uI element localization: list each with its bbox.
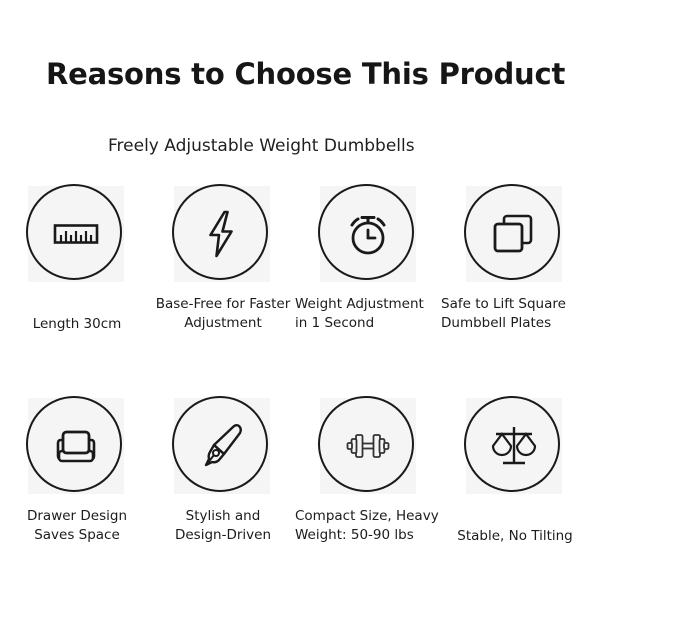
feature-item-compact-size: Compact Size, Heavy Weight: 50-90 lbs: [296, 398, 442, 583]
feature-caption: Compact Size, Heavy Weight: 50-90 lbs: [289, 507, 449, 545]
infographic-page: Reasons to Choose This Product Freely Ad…: [0, 0, 684, 623]
feature-row-1: Length 30cm Base-Free for Faster Adjustm…: [0, 186, 684, 371]
caption-line-2: Adjustment: [150, 314, 296, 333]
dumbbell-icon: [343, 421, 393, 471]
feature-caption: Stylish and Design-Driven: [150, 507, 296, 545]
caption-line-1: Drawer Design: [4, 507, 150, 526]
stacked-squares-icon: [489, 209, 539, 259]
feature-item-square-plates: Safe to Lift Square Dumbbell Plates: [442, 186, 588, 371]
feature-caption: Length 30cm: [4, 315, 150, 334]
fountain-pen-icon: [197, 421, 247, 471]
feature-icon-tile: [320, 398, 416, 494]
feature-icon-tile: [466, 186, 562, 282]
caption-line-2: Weight: 50-90 lbs: [295, 526, 449, 545]
feature-item-one-second: Weight Adjustment in 1 Second: [296, 186, 442, 371]
caption-line-1: Stable, No Tilting: [442, 527, 588, 546]
caption-line-1: Length 30cm: [4, 315, 150, 334]
caption-line-2: Saves Space: [4, 526, 150, 545]
lightning-bolt-icon: [197, 209, 247, 259]
caption-line-1: Stylish and: [150, 507, 296, 526]
feature-caption: Drawer Design Saves Space: [4, 507, 150, 545]
stopwatch-icon: [343, 209, 393, 259]
ruler-icon: [51, 209, 101, 259]
feature-icon-tile: [28, 398, 124, 494]
feature-row-2: Drawer Design Saves Space Stylish and De…: [0, 398, 684, 583]
feature-icon-tile: [466, 398, 562, 494]
drawer-icon: [51, 421, 101, 471]
caption-line-1: Compact Size, Heavy: [295, 507, 449, 526]
feature-icon-tile: [28, 186, 124, 282]
feature-icon-tile: [320, 186, 416, 282]
caption-line-2: Dumbbell Plates: [441, 314, 595, 333]
feature-item-drawer: Drawer Design Saves Space: [4, 398, 150, 583]
feature-item-base-free: Base-Free for Faster Adjustment: [150, 186, 296, 371]
feature-caption: Weight Adjustment in 1 Second: [289, 295, 449, 333]
feature-item-length: Length 30cm: [4, 186, 150, 371]
caption-line-2: Design-Driven: [150, 526, 296, 545]
balance-scales-icon: [489, 421, 539, 471]
feature-icon-tile: [174, 398, 270, 494]
feature-caption: Safe to Lift Square Dumbbell Plates: [435, 295, 595, 333]
caption-line-1: Safe to Lift Square: [441, 295, 595, 314]
page-subtitle: Freely Adjustable Weight Dumbbells: [108, 136, 415, 156]
caption-line-1: Base-Free for Faster: [150, 295, 296, 314]
caption-line-2: in 1 Second: [295, 314, 449, 333]
page-title: Reasons to Choose This Product: [46, 57, 565, 91]
feature-icon-tile: [174, 186, 270, 282]
caption-line-1: Weight Adjustment: [295, 295, 449, 314]
feature-item-stylish: Stylish and Design-Driven: [150, 398, 296, 583]
feature-caption: Stable, No Tilting: [442, 527, 588, 546]
feature-caption: Base-Free for Faster Adjustment: [150, 295, 296, 333]
feature-item-stable: Stable, No Tilting: [442, 398, 588, 583]
